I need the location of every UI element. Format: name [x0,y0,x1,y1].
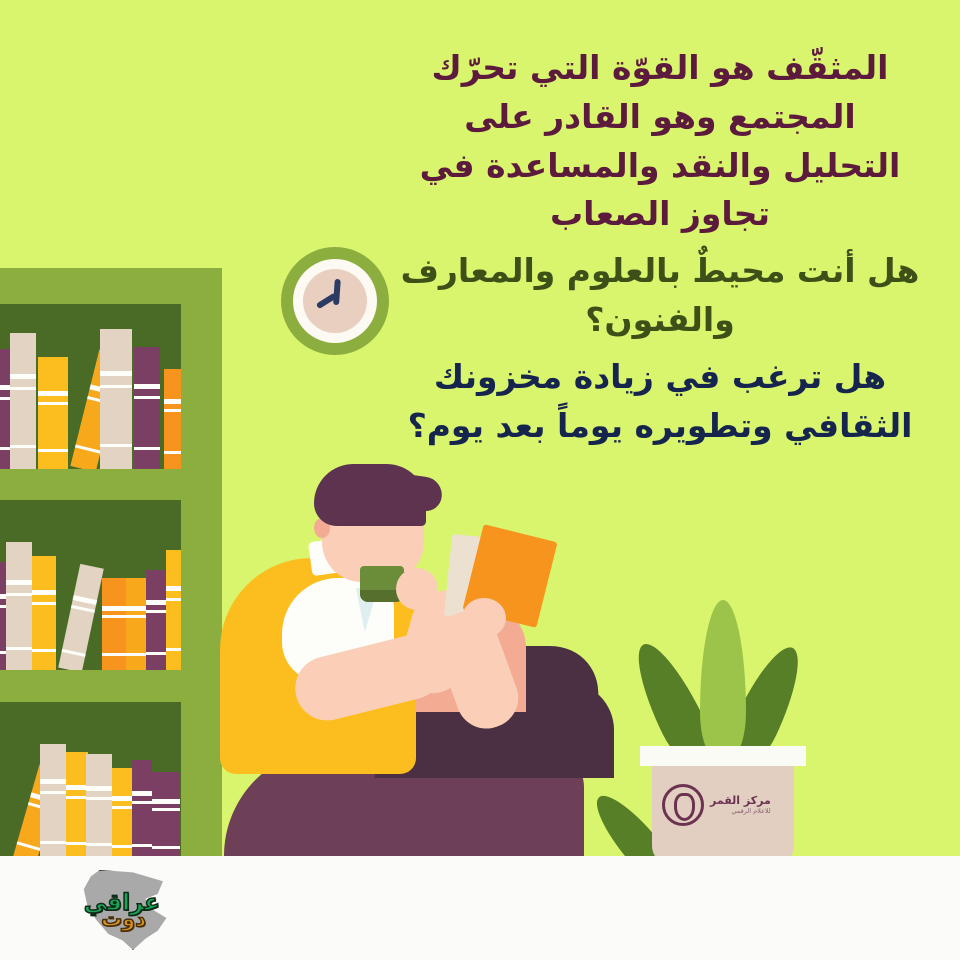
book-stripe [6,580,32,585]
book [38,357,68,469]
book-stripe [62,649,86,657]
brand-logo-text: عراقي دوت [70,892,174,934]
book-stripe [152,808,180,811]
book-stripe [86,797,112,800]
book [134,347,160,469]
question-paragraph-1: هل أنت محيطٌ بالعلوم والمعارف والفنون؟ [400,247,920,345]
watermark-subtitle: للاعلام الرقمي [710,808,771,815]
book [164,369,181,469]
book [86,754,112,856]
hair-swoop [394,473,444,513]
crescent-monogram-icon [662,784,704,826]
book-stripe [164,451,181,454]
brand-logo[interactable]: عراقي دوت [62,870,182,948]
book-stripe [166,586,181,591]
book-stripe [40,779,66,784]
book-stripe [32,649,56,652]
book-stripe [134,396,160,399]
book-stripe [10,387,36,390]
book-stripe [102,653,126,656]
person-reading-illustration [210,470,630,856]
book-stripe [126,615,148,618]
book-stripe [6,593,32,596]
book-stripe [126,606,148,611]
book-stripe [152,846,180,849]
book-stripe [66,842,88,845]
book-stripe [146,600,168,605]
poster-canvas: مركز القمر للاعلام الرقمي المثقّف هو الق… [0,0,960,960]
hand-holding-book [462,598,506,638]
book-stripe [32,590,56,595]
watermark-text: مركز القمر للاعلام الرقمي [710,795,771,815]
book [152,772,180,856]
quote-paragraph: المثقّف هو القوّة التي تحرّك المجتمع وهو… [400,44,920,239]
bookshelf-middle [0,500,181,670]
book [132,760,152,856]
book-stripe [38,449,68,452]
book-stripe [100,385,132,388]
book [126,578,148,670]
hand-holding-mug [396,568,438,610]
plant-pot-rim [640,746,806,766]
book-stripe [38,402,68,405]
book-stripe [146,652,168,655]
brand-word-orange: دوت [101,909,146,930]
book-stripe [73,595,98,605]
book-stripe [166,598,181,601]
book [166,550,181,670]
plant-pot-body: مركز القمر للاعلام الرقمي [652,766,794,856]
bookshelf-top [0,304,181,469]
question-paragraph-2: هل ترغب في زيادة مخزونك الثقافي وتطويره … [400,353,920,451]
book-stripe [102,606,126,611]
wall-clock [281,247,389,355]
book-stripe [32,602,56,605]
clock-face [303,269,367,333]
book-stripe [0,397,10,400]
book [66,752,88,856]
book-stripe [10,374,36,379]
book-stripe [0,385,10,390]
book-stripe [126,653,148,656]
illustration-scene: مركز القمر للاعلام الرقمي المثقّف هو الق… [0,0,960,856]
book [32,556,56,670]
book-stripe [66,796,88,799]
book-stripe [166,648,181,651]
book-stripe [6,647,32,650]
book-stripe [112,806,132,809]
book [112,768,132,856]
book-stripe [10,445,36,448]
clock-inner-ring [293,259,377,343]
watermark-title: مركز القمر [710,795,771,806]
bookcase [0,268,222,856]
book-stripe [102,615,126,618]
book [146,570,168,670]
book-stripe [86,786,112,791]
book-stripe [146,610,168,613]
book-stripe [132,791,152,796]
book-stripe [71,605,95,613]
book-stripe [152,799,180,804]
book-stripe [17,841,41,850]
book-stripe [112,845,132,848]
book [100,329,132,469]
bookshelf-bottom [0,702,181,856]
book-stripe [66,785,88,790]
book [6,542,32,670]
book-stripe [132,844,152,847]
book-stripe [134,384,160,389]
text-block: المثقّف هو القوّة التي تحرّك المجتمع وهو… [400,44,920,457]
plant-leaf-center [700,600,746,760]
book [10,333,36,469]
book-stripe [112,796,132,801]
book-stripe [164,409,181,412]
book-stripe [100,444,132,447]
book [0,349,10,469]
footer-bar: عراقي دوت [0,856,960,960]
potted-plant: مركز القمر للاعلام الرقمي [628,596,818,856]
book-stripe [38,391,68,396]
book-stripe [40,791,66,794]
book-stripe [100,371,132,376]
book-stripe [164,399,181,404]
clock-hour-hand [333,279,341,305]
book-stripe [132,801,152,804]
watermark-logo: مركز القمر للاعلام الرقمي [662,784,786,826]
book-stripe [40,841,66,844]
book [40,744,66,856]
book [58,564,104,670]
book-stripe [0,447,10,450]
book-stripe [86,843,112,846]
book [102,578,126,670]
book-stripe [75,445,101,454]
book-stripe [134,447,160,450]
